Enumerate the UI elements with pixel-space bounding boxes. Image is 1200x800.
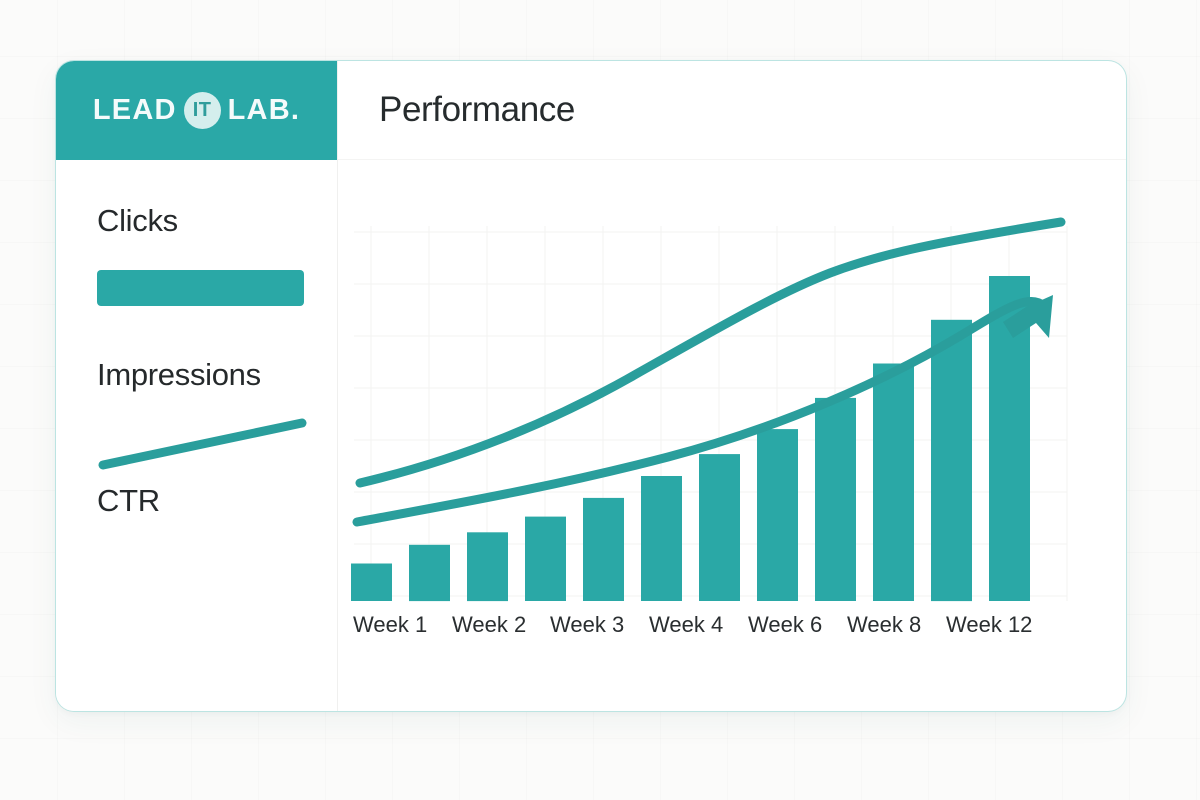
chart-area: Week 1 Week 2 Week 3 Week 4 Week 6 Week … <box>338 160 1126 711</box>
bar-week-9 <box>815 398 856 601</box>
page-title: Performance <box>379 90 575 130</box>
brand-word-lab: LAB. <box>228 96 300 125</box>
brand-header: LEAD IT LAB. <box>56 61 337 160</box>
brand-word-lead: LEAD <box>93 96 177 125</box>
legend-swatch-bar-clicks <box>97 270 304 306</box>
x-tick-label-6: Week 12 <box>946 612 1032 637</box>
x-tick-label-2: Week 3 <box>550 612 624 637</box>
bar-week-3 <box>467 532 508 601</box>
legend-item-impressions[interactable]: Impressions <box>97 358 337 474</box>
legend-item-ctr[interactable]: CTR <box>97 484 337 518</box>
legend-spacer-a <box>97 306 337 358</box>
x-tick-label-5: Week 8 <box>847 612 921 637</box>
circle-badge-icon: IT <box>184 92 221 129</box>
bar-week-4 <box>525 517 566 601</box>
bar-week-5 <box>583 498 624 601</box>
bar-week-10 <box>873 364 914 602</box>
legend-list: Clicks Impressions CTR <box>56 160 337 711</box>
chart-bars-clicks <box>351 276 1030 601</box>
dashboard-card: LEAD IT LAB. Clicks Impressions <box>55 60 1127 712</box>
legend-item-clicks[interactable]: Clicks <box>97 204 337 306</box>
x-tick-label-0: Week 1 <box>353 612 427 637</box>
brand-logo: LEAD IT LAB. <box>93 92 300 129</box>
legend-label-ctr: CTR <box>97 484 337 518</box>
x-tick-label-3: Week 4 <box>649 612 723 637</box>
legend-label-impressions: Impressions <box>97 358 337 392</box>
performance-chart[interactable]: Week 1 Week 2 Week 3 Week 4 Week 6 Week … <box>338 160 1127 711</box>
x-tick-label-4: Week 6 <box>748 612 822 637</box>
bar-week-7 <box>699 454 740 601</box>
bar-week-1 <box>351 564 392 602</box>
bar-week-11 <box>931 320 972 601</box>
chart-x-tick-labels: Week 1 Week 2 Week 3 Week 4 Week 6 Week … <box>353 612 1032 637</box>
bar-week-6 <box>641 476 682 601</box>
x-tick-label-1: Week 2 <box>452 612 526 637</box>
sidebar: LEAD IT LAB. Clicks Impressions <box>56 61 338 711</box>
bar-week-2 <box>409 545 450 601</box>
bar-week-8 <box>757 429 798 601</box>
legend-label-clicks: Clicks <box>97 204 337 238</box>
main-header: Performance <box>338 61 1126 160</box>
main-panel: Performance <box>338 61 1126 711</box>
legend-swatch-line-impressions <box>97 412 309 474</box>
